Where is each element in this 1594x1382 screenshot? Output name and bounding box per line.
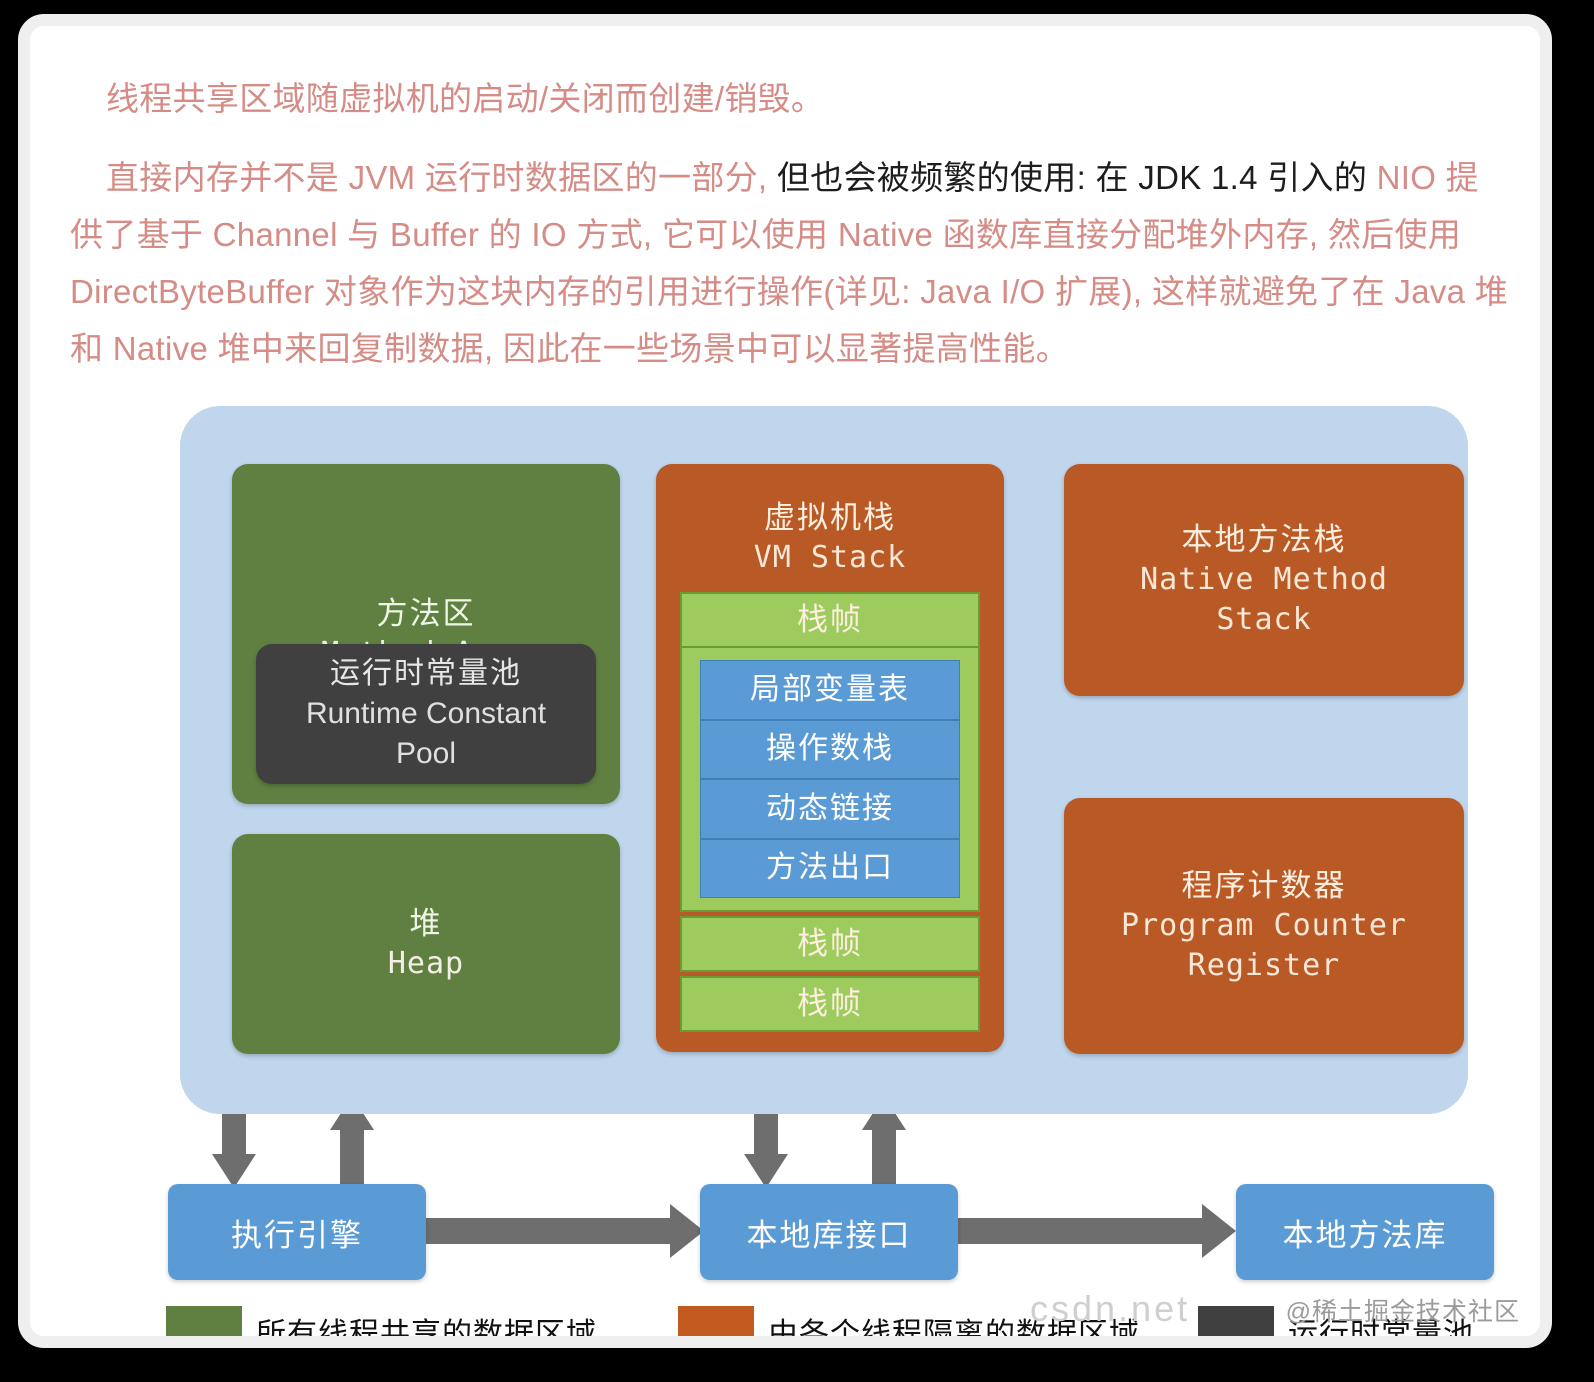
stack-frame-detail: 局部变量表 操作数栈 动态链接 方法出口	[680, 648, 980, 912]
stack-frame-top: 栈帧	[680, 592, 980, 648]
legend-swatch-constant-pool	[1198, 1306, 1274, 1348]
stack-frame-bottom-label: 栈帧	[797, 984, 863, 1024]
vm-stack-cn-label: 虚拟机栈	[656, 498, 1004, 538]
frame-row-local-variable-table: 局部变量表	[700, 660, 960, 720]
native-method-stack-cn-label: 本地方法栈	[1182, 520, 1347, 560]
runtime-data-area-panel: 方法区 Method Area 运行时常量池 Runtime Constant …	[180, 406, 1468, 1114]
frame-row-dynamic-linking-label: 动态链接	[766, 789, 894, 829]
juejin-watermark: @稀土掘金技术社区	[1286, 1292, 1520, 1328]
screenshot-card: 线程共享区域随虚拟机的启动/关闭而创建/销毁。 直接内存并不是 JVM 运行时数…	[18, 14, 1552, 1348]
heap-box: 堆 Heap	[232, 834, 620, 1054]
arrow-right-interface-to-library	[958, 1204, 1236, 1258]
heap-cn-label: 堆	[410, 904, 443, 944]
frame-row-dynamic-linking: 动态链接	[700, 779, 960, 839]
frame-row-method-return-address: 方法出口	[700, 839, 960, 899]
method-area-box: 方法区 Method Area 运行时常量池 Runtime Constant …	[232, 464, 620, 804]
method-area-cn-label: 方法区	[377, 594, 476, 634]
frame-row-method-return-address-label: 方法出口	[766, 848, 894, 888]
native-method-stack-box: 本地方法栈 Native Method Stack	[1064, 464, 1464, 696]
article-text: 线程共享区域随虚拟机的启动/关闭而创建/销毁。 直接内存并不是 JVM 运行时数…	[70, 70, 1512, 389]
legend-item-shared: 所有线程共享的数据区域	[166, 1306, 597, 1348]
stack-frame-middle: 栈帧	[680, 916, 980, 972]
legend-label-shared: 所有线程共享的数据区域	[256, 1309, 597, 1348]
execution-engine-box: 执行引擎	[168, 1184, 426, 1280]
runtime-constant-pool-en-line2: Pool	[396, 734, 456, 774]
vm-stack-title: 虚拟机栈 VM Stack	[656, 498, 1004, 578]
native-library-box: 本地方法库	[1236, 1184, 1494, 1280]
paragraph-2-seg-b: 但也会被频繁的使用: 在 JDK 1.4 引入的	[777, 159, 1377, 196]
program-counter-register-en-line1: Program Counter	[1121, 906, 1407, 946]
legend-item-isolated: 由各个线程隔离的数据区域	[678, 1306, 1140, 1348]
runtime-constant-pool-box: 运行时常量池 Runtime Constant Pool	[256, 644, 596, 784]
program-counter-register-box: 程序计数器 Program Counter Register	[1064, 798, 1464, 1054]
stack-frame-bottom: 栈帧	[680, 976, 980, 1032]
program-counter-register-en-line2: Register	[1188, 946, 1341, 986]
legend-swatch-isolated	[678, 1306, 754, 1348]
frame-row-operand-stack-label: 操作数栈	[766, 729, 894, 769]
paragraph-2: 直接内存并不是 JVM 运行时数据区的一部分, 但也会被频繁的使用: 在 JDK…	[70, 149, 1512, 377]
native-interface-box: 本地库接口	[700, 1184, 958, 1280]
frame-row-operand-stack: 操作数栈	[700, 720, 960, 780]
native-method-stack-en-line1: Native Method	[1140, 560, 1388, 600]
vm-stack-frames: 栈帧 局部变量表 操作数栈 动态链接 方法出口	[680, 592, 980, 1032]
vm-stack-box: 虚拟机栈 VM Stack 栈帧 局部变量表 操作数栈	[656, 464, 1004, 1052]
runtime-constant-pool-cn-label: 运行时常量池	[330, 654, 522, 694]
paragraph-1: 线程共享区域随虚拟机的启动/关闭而创建/销毁。	[70, 70, 1512, 127]
paragraph-2-seg-a: 直接内存并不是 JVM 运行时数据区的一部分,	[106, 159, 777, 196]
native-method-stack-en-line2: Stack	[1216, 600, 1311, 640]
frame-row-local-variable-table-label: 局部变量表	[750, 670, 910, 710]
legend-swatch-shared	[166, 1306, 242, 1348]
page-content: 线程共享区域随虚拟机的启动/关闭而创建/销毁。 直接内存并不是 JVM 运行时数…	[30, 26, 1540, 1336]
runtime-constant-pool-en-line1: Runtime Constant	[306, 694, 546, 734]
vm-stack-en-label: VM Stack	[656, 538, 1004, 578]
stack-frame-middle-label: 栈帧	[797, 924, 863, 964]
jvm-runtime-data-area-diagram: 方法区 Method Area 运行时常量池 Runtime Constant …	[148, 406, 1468, 1336]
arrow-right-exec-to-interface	[426, 1204, 704, 1258]
stack-frame-top-label: 栈帧	[797, 600, 863, 640]
legend-label-isolated: 由各个线程隔离的数据区域	[768, 1309, 1140, 1348]
heap-en-label: Heap	[388, 944, 464, 984]
program-counter-register-cn-label: 程序计数器	[1182, 866, 1347, 906]
